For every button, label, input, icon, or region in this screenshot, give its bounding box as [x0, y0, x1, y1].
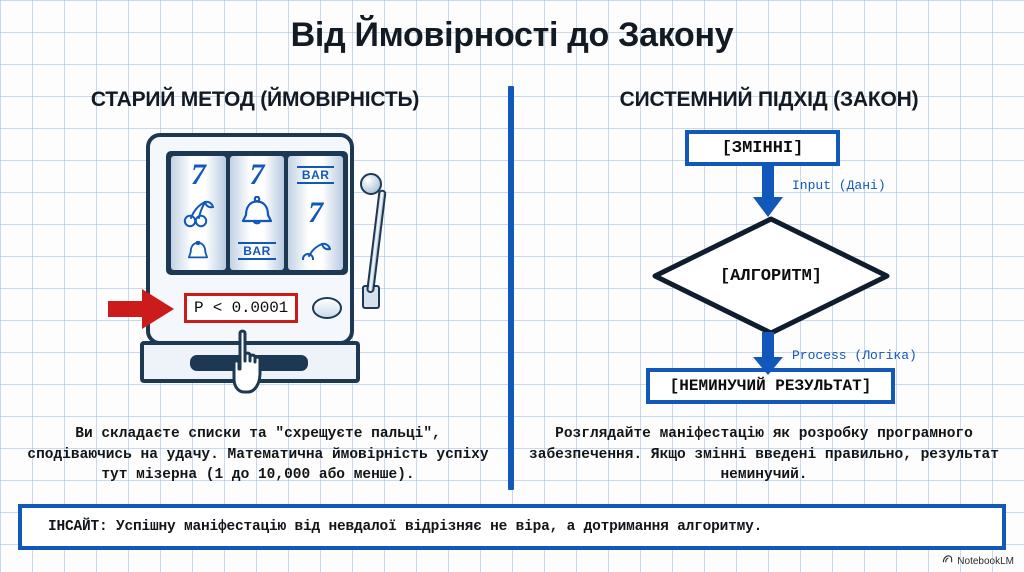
- seven-icon: 7: [308, 198, 323, 228]
- column-divider: [508, 86, 514, 490]
- bell-icon: [184, 241, 212, 261]
- flow-arrow-input: [752, 164, 784, 223]
- system-flowchart: [ЗМІННІ] Input (Дані) [АЛГОРИТМ] Process…: [524, 130, 1014, 405]
- slot-machine-reels-window: 7: [166, 151, 348, 275]
- flow-node-algorithm: [АЛГОРИТМ]: [652, 216, 890, 336]
- flow-edge-label-process: Process (Логіка): [792, 348, 917, 363]
- infographic-canvas: Від Ймовірності до Закону СТАРИЙ МЕТОД (…: [0, 0, 1024, 572]
- lever-shaft: [366, 189, 387, 293]
- insight-banner: ІНСАЙТ: Успішну маніфестацію від невдало…: [18, 504, 1006, 550]
- notebooklm-logo-icon: [942, 554, 953, 568]
- slot-machine-panel: P < 0.0001: [166, 285, 348, 331]
- reel-2: 7 BAR: [230, 156, 285, 270]
- coin-knob-icon[interactable]: [312, 297, 342, 319]
- slot-machine-body: 7: [146, 133, 354, 345]
- slot-machine-illustration: 7: [140, 133, 380, 383]
- slot-machine-lever[interactable]: [352, 173, 386, 301]
- reel-3-top: BAR: [288, 156, 343, 194]
- cherry-icon: [301, 242, 331, 260]
- insight-text: ІНСАЙТ: Успішну маніфестацію від невдало…: [22, 519, 762, 535]
- caption-left: Ви складаєте списки та "схрещуєте пальці…: [22, 424, 494, 486]
- flow-arrow-process: [752, 332, 784, 381]
- reel-3-bottom: [288, 232, 343, 270]
- column-header-right: СИСТЕМНИЙ ПІДХІД (ЗАКОН): [524, 88, 1014, 112]
- reel-1: 7: [171, 156, 226, 270]
- flow-edge-label-input: Input (Дані): [792, 178, 886, 193]
- flow-node-variables: [ЗМІННІ]: [685, 130, 840, 166]
- hand-cursor-icon: [224, 329, 270, 400]
- reel-2-middle: [230, 194, 285, 232]
- reel-3: BAR 7: [288, 156, 343, 270]
- attention-arrow-icon: [108, 289, 174, 334]
- reel-2-bottom: BAR: [230, 232, 285, 270]
- seven-icon: 7: [191, 160, 206, 190]
- probability-display: P < 0.0001: [184, 293, 298, 323]
- bar-icon: BAR: [297, 166, 335, 184]
- reel-1-middle: [171, 194, 226, 232]
- reel-1-top: 7: [171, 156, 226, 194]
- column-header-left: СТАРИЙ МЕТОД (ЙМОВІРНІСТЬ): [10, 88, 500, 112]
- bell-icon: [238, 196, 276, 230]
- page-title: Від Ймовірності до Закону: [0, 16, 1024, 55]
- watermark-label: NotebookLM: [957, 556, 1014, 567]
- cherry-icon: [181, 198, 215, 228]
- seven-icon: 7: [250, 160, 265, 190]
- bar-icon: BAR: [238, 242, 276, 260]
- lever-knob[interactable]: [360, 173, 382, 195]
- reel-2-top: 7: [230, 156, 285, 194]
- reel-1-bottom: [171, 232, 226, 270]
- reel-3-middle: 7: [288, 194, 343, 232]
- caption-right: Розглядайте маніфестацію як розробку про…: [528, 424, 1000, 486]
- watermark: NotebookLM: [942, 554, 1014, 568]
